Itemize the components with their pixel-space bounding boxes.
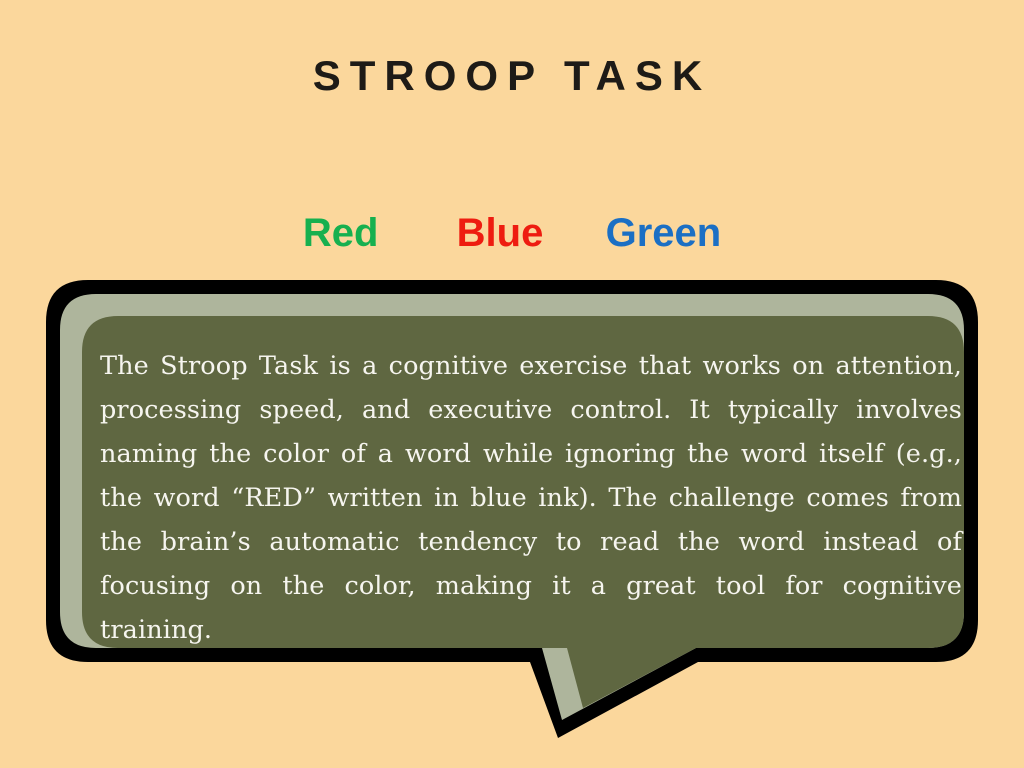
stroop-word-row: Red Blue Green: [0, 208, 1024, 258]
stroop-word-green: Green: [606, 208, 722, 258]
slide-canvas: STROOP TASK Red Blue Green The Stroop Ta…: [0, 0, 1024, 768]
page-title: STROOP TASK: [0, 50, 1024, 102]
speech-bubble: The Stroop Task is a cognitive exercise …: [38, 272, 986, 742]
bubble-body-text: The Stroop Task is a cognitive exercise …: [100, 344, 962, 696]
stroop-word-red: Red: [303, 208, 379, 258]
stroop-word-blue: Blue: [457, 208, 544, 258]
